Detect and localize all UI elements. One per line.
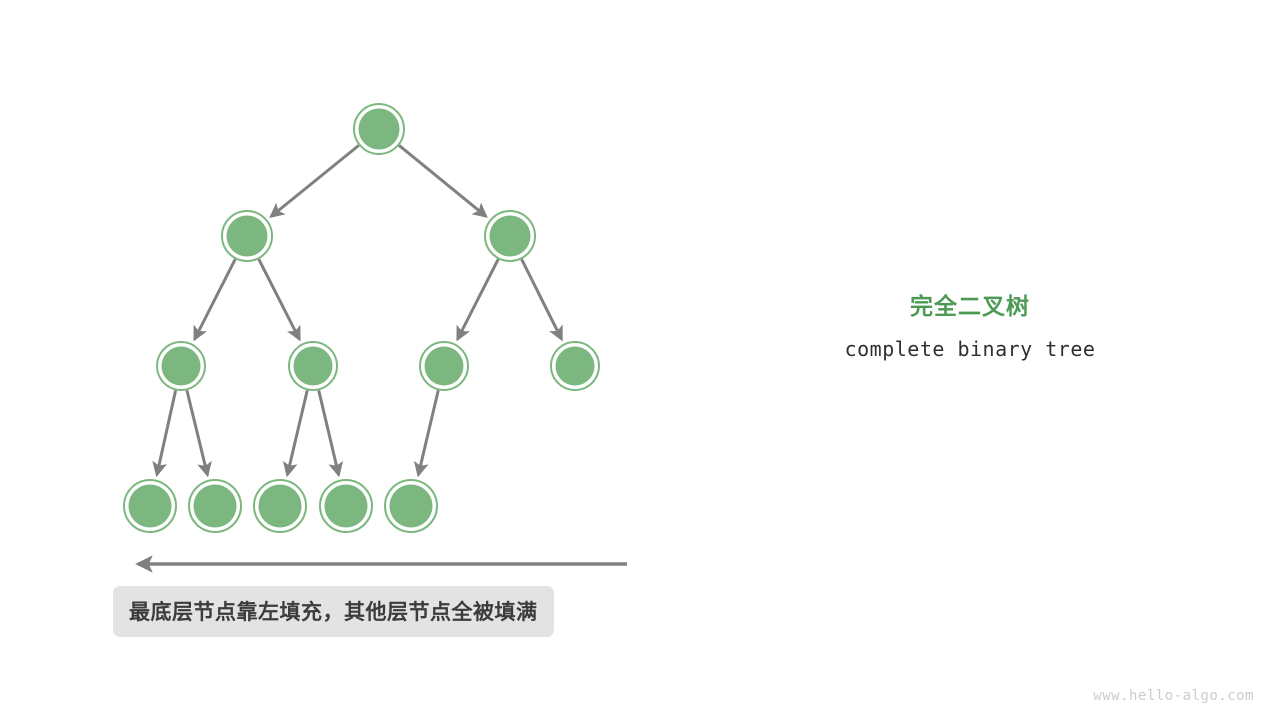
tree-node <box>157 342 205 390</box>
tree-node <box>385 480 437 532</box>
tree-node-core <box>162 347 201 386</box>
tree-node <box>222 211 272 261</box>
tree-edge <box>187 390 208 475</box>
tree-edge <box>287 390 307 475</box>
tree-edge <box>157 390 176 474</box>
tree-node-core <box>227 216 268 257</box>
tree-node-core <box>425 347 464 386</box>
tree-node-core <box>359 109 400 150</box>
tree-node-core <box>556 347 595 386</box>
tree-edge <box>259 259 300 339</box>
tree-node <box>485 211 535 261</box>
tree-node-core <box>259 485 302 528</box>
caption-pill: 最底层节点靠左填充，其他层节点全被填满 <box>113 586 554 637</box>
tree-edge-layer <box>157 145 562 475</box>
tree-edge <box>271 145 359 216</box>
tree-edge <box>319 390 339 475</box>
tree-node-core <box>194 485 237 528</box>
tree-edge <box>418 390 438 475</box>
tree-node-core <box>325 485 368 528</box>
tree-node <box>254 480 306 532</box>
tree-edge <box>522 259 562 339</box>
tree-node <box>289 342 337 390</box>
legend-title: 完全二叉树 <box>780 290 1160 322</box>
tree-edge <box>399 145 486 216</box>
legend-subtitle: complete binary tree <box>780 336 1160 362</box>
tree-node <box>189 480 241 532</box>
tree-node <box>551 342 599 390</box>
tree-edge <box>458 259 499 339</box>
tree-node-core <box>294 347 333 386</box>
tree-node <box>354 104 404 154</box>
tree-node <box>420 342 468 390</box>
legend-block: 完全二叉树 complete binary tree <box>780 290 1160 362</box>
tree-node-core <box>490 216 531 257</box>
watermark: www.hello-algo.com <box>1093 688 1254 704</box>
tree-node-layer <box>124 104 599 532</box>
tree-edge <box>195 259 236 339</box>
tree-node <box>320 480 372 532</box>
tree-node-core <box>390 485 433 528</box>
tree-node-core <box>129 485 172 528</box>
tree-node <box>124 480 176 532</box>
